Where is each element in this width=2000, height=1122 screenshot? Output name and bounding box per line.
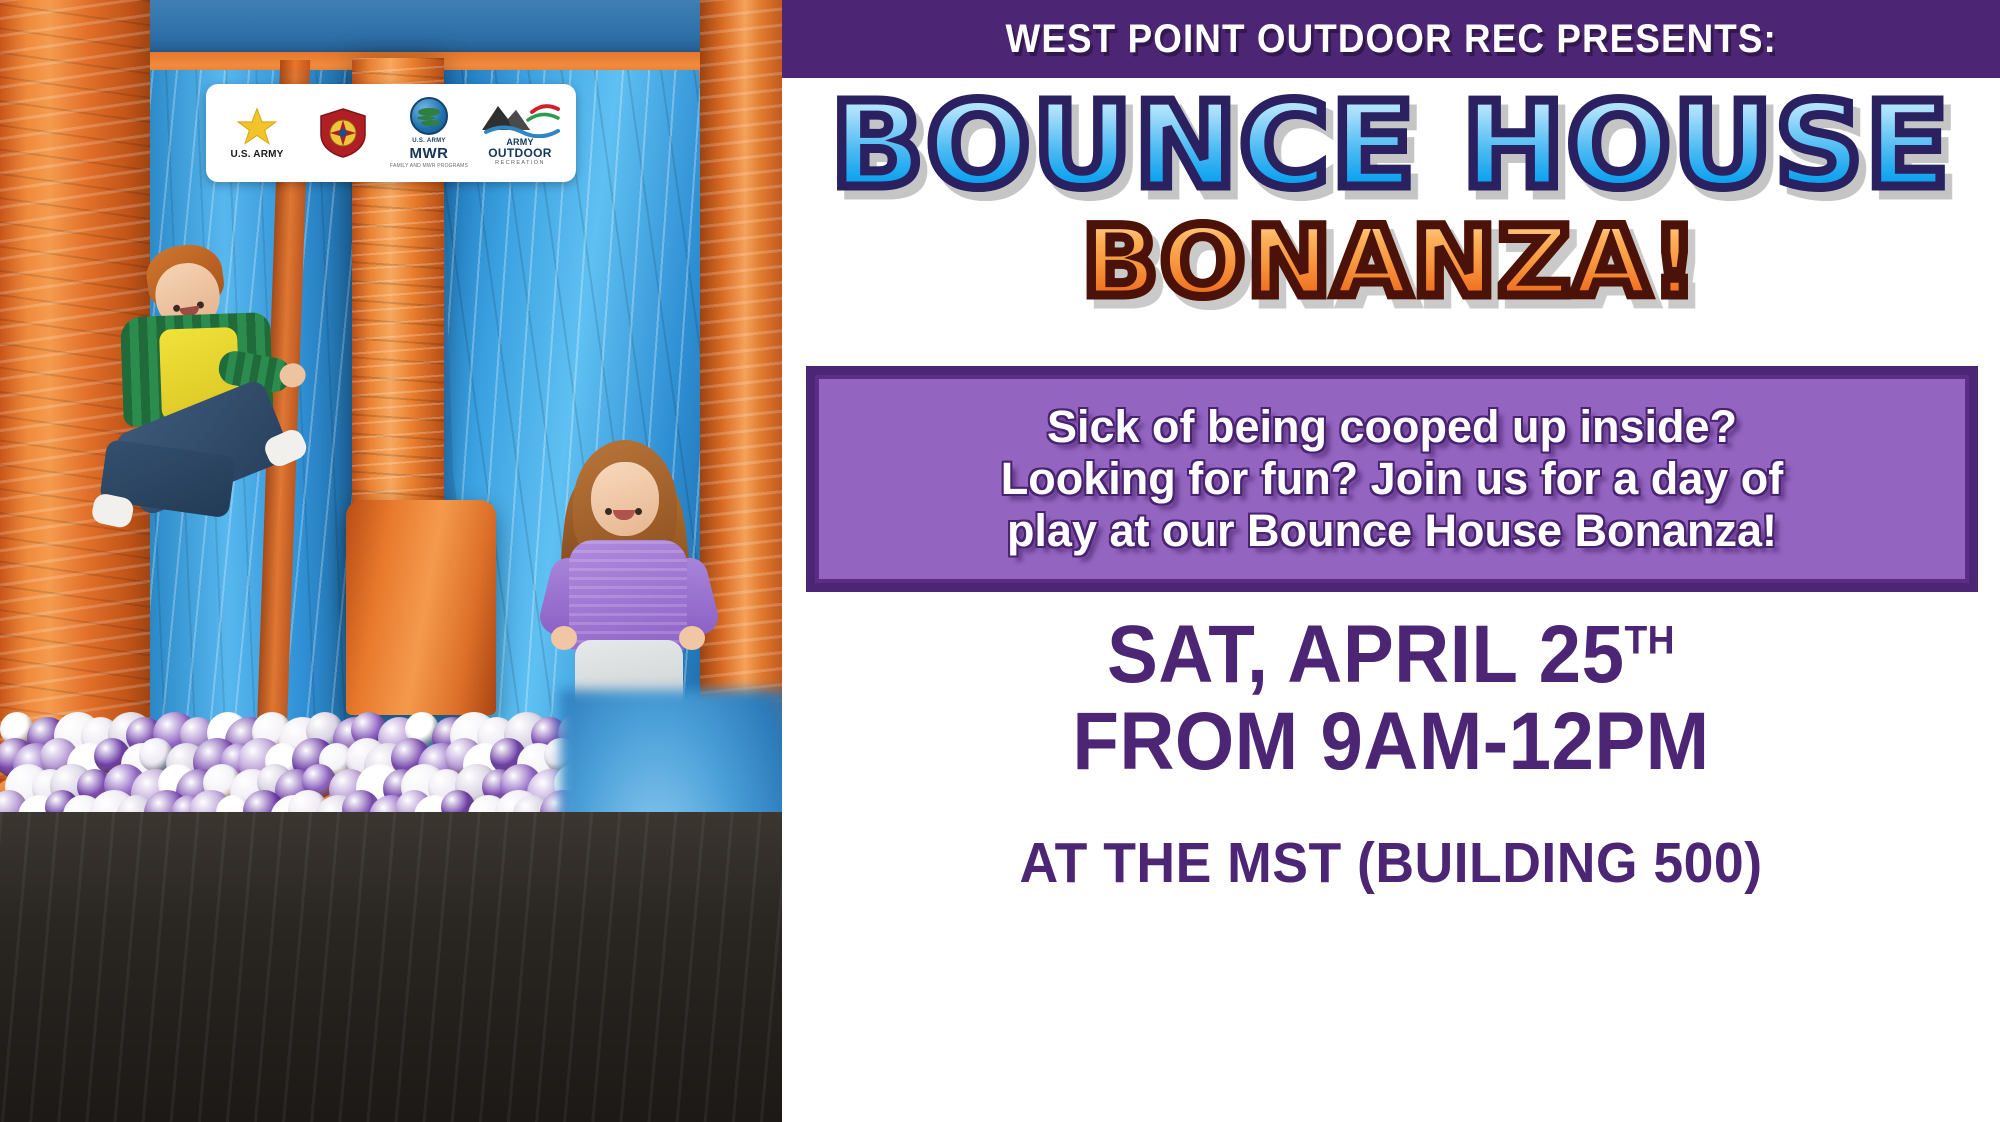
us-army-star-icon [236,106,278,148]
sponsor-logo-badge: U.S. ARMY U.S. ARMY MWR FAMILY AND MWR P… [206,84,576,182]
title-line-bonanza: BONANZA! [1082,214,1699,310]
description-line-1: Sick of being cooped up inside? [1047,401,1737,453]
gym-floor [0,812,782,1122]
us-army-logo-caption: U.S. ARMY [230,150,283,160]
mwr-globe-icon [410,97,448,135]
event-date-text: SAT, APRIL 25 [1107,609,1624,700]
girl-face [591,462,659,536]
girl-hand-left [551,626,577,650]
header-bar: WEST POINT OUTDOOR REC PRESENTS: [782,0,2000,78]
event-details: SAT, APRIL 25TH FROM 9AM-12PM AT THE MST… [782,612,2000,896]
presents-headline: WEST POINT OUTDOOR REC PRESENTS: [1005,17,1776,62]
flyer-canvas: U.S. ARMY U.S. ARMY MWR FAMILY AND MWR P… [0,0,2000,1122]
event-location: AT THE MST (BUILDING 500) [819,830,1964,896]
flyer-content-panel: WEST POINT OUTDOOR REC PRESENTS: BOUNCE … [782,0,2000,1122]
mwr-logo-line2: MWR [410,146,449,161]
child-on-left-slide [52,229,339,541]
girl-purple-sweater [569,540,687,652]
mwr-logo-line1: U.S. ARMY [412,138,445,144]
event-time: FROM 9AM-12PM [825,699,1958,786]
description-box-inner: Sick of being cooped up inside? Looking … [815,375,1969,583]
description-box: Sick of being cooped up inside? Looking … [806,366,1978,592]
description-line-3: play at our Bounce House Bonanza! [1007,505,1777,557]
army-garrison-logo [302,108,384,158]
army-mwr-logo: U.S. ARMY MWR FAMILY AND MWR PROGRAMS [388,97,470,169]
girl-eye-right [635,508,642,515]
outdoor-logo-line2: OUTDOOR [488,147,551,160]
event-date: SAT, APRIL 25TH [825,612,1958,699]
army-outdoor-recreation-logo: ARMY OUTDOOR RECREATION [474,100,566,166]
event-title: BOUNCE HOUSE BONANZA! [782,86,2000,310]
inflatable-wedge-block [346,500,496,715]
us-army-logo: U.S. ARMY [216,106,298,160]
bounce-house-photo: U.S. ARMY U.S. ARMY MWR FAMILY AND MWR P… [0,0,782,1122]
title-line-bounce-house: BOUNCE HOUSE [831,86,1952,204]
outdoor-recreation-mountain-icon [478,100,562,138]
event-date-ordinal-suffix: TH [1624,619,1675,663]
description-line-2: Looking for fun? Join us for a day of [1001,453,1783,505]
girl-hand-right [679,626,705,650]
outdoor-logo-line3: RECREATION [495,160,545,166]
mwr-logo-line3: FAMILY AND MWR PROGRAMS [390,163,468,169]
garrison-shield-icon [319,108,367,158]
girl-eye-left [605,508,612,515]
